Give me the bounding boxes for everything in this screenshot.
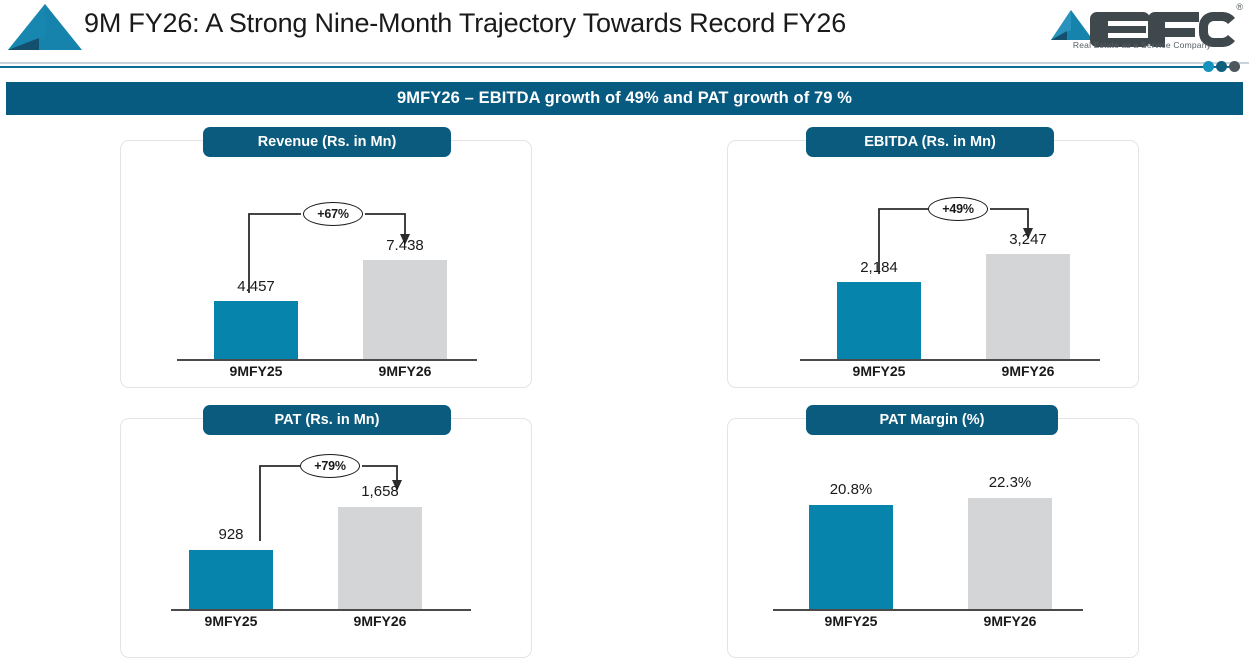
bar-value-pat-9mfy26: 1,658	[338, 483, 422, 500]
growth-connector-revenue	[121, 141, 533, 389]
x-axis-revenue	[177, 359, 477, 361]
divider-dot-light-teal-icon	[1203, 61, 1214, 72]
chart-card-revenue: Revenue (Rs. in Mn) +67% 4.457 7.438 9MF…	[120, 140, 532, 388]
page-title: 9M FY26: A Strong Nine-Month Trajectory …	[84, 8, 846, 39]
growth-badge-revenue-label: +67%	[317, 207, 349, 221]
growth-connector-ebitda	[728, 141, 1140, 389]
growth-badge-ebitda-label: +49%	[942, 202, 974, 216]
growth-badge-ebitda: +49%	[928, 197, 988, 221]
divider-thick-line	[0, 62, 1249, 64]
headline-banner: 9MFY26 – EBITDA growth of 49% and PAT gr…	[6, 82, 1243, 115]
slide-root: 9M FY26: A Strong Nine-Month Trajectory …	[0, 0, 1249, 664]
bar-pat-9mfy25	[189, 550, 273, 609]
bar-value-pat-margin-9mfy26: 22.3%	[968, 474, 1052, 491]
divider-thin-line	[0, 66, 1240, 68]
bar-revenue-9mfy26	[363, 260, 447, 359]
brand-tagline: Real Estate as a Service Company	[1049, 40, 1235, 50]
bar-value-revenue-9mfy25: 4.457	[214, 278, 298, 295]
category-label-pat-9mfy26: 9MFY26	[338, 613, 422, 629]
chart-plot-revenue: +67% 4.457 7.438 9MFY25 9MFY26	[121, 141, 533, 387]
growth-badge-pat: +79%	[300, 454, 360, 478]
chart-card-ebitda: EBITDA (Rs. in Mn) +49% 2,184 3,247 9MFY…	[727, 140, 1139, 388]
chart-plot-pat-margin: 20.8% 22.3% 9MFY25 9MFY26	[728, 419, 1140, 657]
bar-pat-9mfy26	[338, 507, 422, 609]
category-label-ebitda-9mfy26: 9MFY26	[986, 363, 1070, 379]
category-label-pat-margin-9mfy26: 9MFY26	[968, 613, 1052, 629]
bar-ebitda-9mfy26	[986, 254, 1070, 359]
header-divider	[0, 58, 1249, 72]
x-axis-pat-margin	[773, 609, 1083, 611]
bar-ebitda-9mfy25	[837, 282, 921, 359]
x-axis-pat	[171, 609, 471, 611]
bar-value-ebitda-9mfy26: 3,247	[986, 231, 1070, 248]
category-label-revenue-9mfy26: 9MFY26	[363, 363, 447, 379]
bar-value-pat-margin-9mfy25: 20.8%	[809, 481, 893, 498]
category-label-revenue-9mfy25: 9MFY25	[214, 363, 298, 379]
bar-revenue-9mfy25	[214, 301, 298, 359]
bar-value-revenue-9mfy26: 7.438	[363, 237, 447, 254]
category-label-pat-margin-9mfy25: 9MFY25	[809, 613, 893, 629]
chart-plot-pat: +79% 928 1,658 9MFY25 9MFY26	[121, 419, 533, 657]
chart-card-pat: PAT (Rs. in Mn) +79% 928 1,658 9MFY25 9M…	[120, 418, 532, 658]
bar-value-pat-9mfy25: 928	[189, 526, 273, 543]
slide-header: 9M FY26: A Strong Nine-Month Trajectory …	[0, 0, 1249, 72]
divider-dot-dark-teal-icon	[1216, 61, 1227, 72]
triangle-logo-icon	[6, 2, 84, 58]
growth-badge-pat-label: +79%	[314, 459, 346, 473]
divider-dot-grey-icon	[1229, 61, 1240, 72]
category-label-ebitda-9mfy25: 9MFY25	[837, 363, 921, 379]
chart-card-pat-margin: PAT Margin (%) 20.8% 22.3% 9MFY25 9MFY26	[727, 418, 1139, 658]
chart-plot-ebitda: +49% 2,184 3,247 9MFY25 9MFY26	[728, 141, 1140, 387]
category-label-pat-9mfy25: 9MFY25	[189, 613, 273, 629]
bar-pat-margin-9mfy25	[809, 505, 893, 609]
growth-badge-revenue: +67%	[303, 202, 363, 226]
registered-mark-icon: ®	[1236, 2, 1243, 12]
bar-pat-margin-9mfy26	[968, 498, 1052, 609]
bar-value-ebitda-9mfy25: 2,184	[837, 259, 921, 276]
headline-banner-text: 9MFY26 – EBITDA growth of 49% and PAT gr…	[397, 89, 852, 108]
x-axis-ebitda	[800, 359, 1100, 361]
